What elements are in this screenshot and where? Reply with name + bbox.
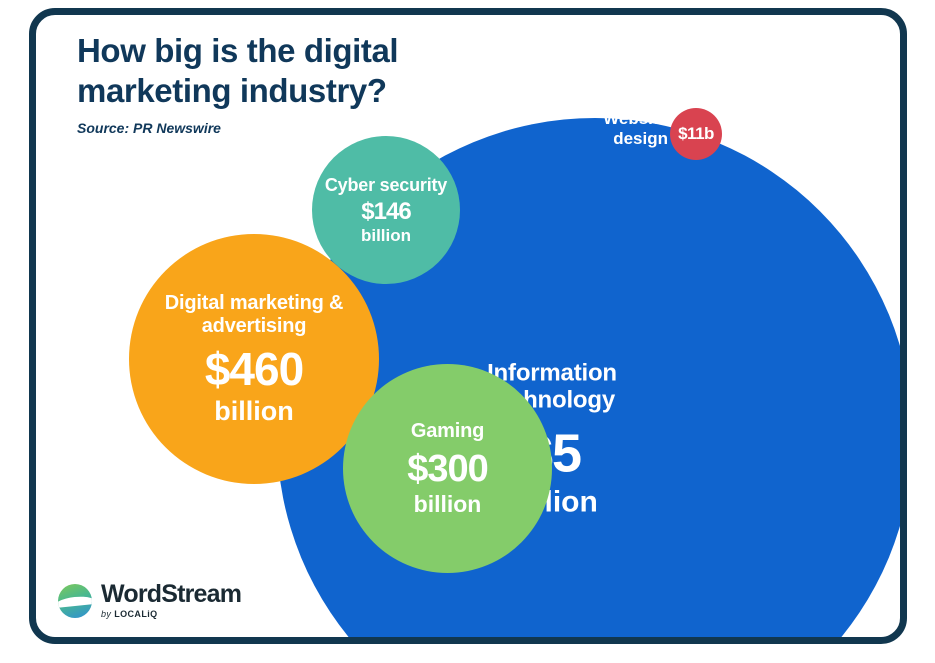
bubble-digital-marketing-unit: billion bbox=[214, 396, 293, 426]
bubble-cyber-security[interactable]: Cyber security $146 billion bbox=[312, 136, 460, 284]
bubble-gaming-value: $300 bbox=[407, 448, 488, 491]
wordstream-wave-icon bbox=[58, 584, 92, 618]
infographic-canvas: Information technology $5 trillion Websi… bbox=[0, 0, 935, 663]
bubble-digital-marketing-value: $460 bbox=[205, 344, 303, 396]
website-design-label: Website design bbox=[568, 109, 668, 150]
wordstream-parent-brand: by LOCALiQ bbox=[101, 609, 241, 619]
bubble-gaming-unit: billion bbox=[414, 492, 482, 518]
wordstream-brand-name: WordStream bbox=[101, 582, 241, 607]
bubble-website-design[interactable]: $11b bbox=[670, 108, 722, 160]
wordstream-localiq-text: LOCALiQ bbox=[114, 609, 157, 619]
card-clip-region: Information technology $5 trillion Websi… bbox=[36, 15, 900, 637]
bubble-website-design-value: $11b bbox=[678, 124, 714, 143]
bubble-digital-marketing-label: Digital marketing & advertising bbox=[129, 292, 379, 337]
bubble-cyber-security-unit: billion bbox=[361, 226, 411, 245]
wordstream-logo-text: WordStream by LOCALiQ bbox=[101, 582, 241, 619]
bubble-digital-marketing[interactable]: Digital marketing & advertising $460 bil… bbox=[129, 234, 379, 484]
wordstream-by-text: by bbox=[101, 609, 111, 619]
bubble-gaming[interactable]: Gaming $300 billion bbox=[343, 364, 552, 573]
infographic-card: Information technology $5 trillion Websi… bbox=[29, 8, 907, 644]
page-title: How big is the digital marketing industr… bbox=[77, 31, 467, 112]
source-citation: Source: PR Newswire bbox=[77, 120, 467, 136]
bubble-gaming-label: Gaming bbox=[411, 420, 484, 442]
header-block: How big is the digital marketing industr… bbox=[77, 31, 467, 136]
bubble-cyber-security-label: Cyber security bbox=[325, 175, 447, 195]
wordstream-logo[interactable]: WordStream by LOCALiQ bbox=[58, 582, 241, 619]
bubble-cyber-security-value: $146 bbox=[361, 199, 410, 226]
